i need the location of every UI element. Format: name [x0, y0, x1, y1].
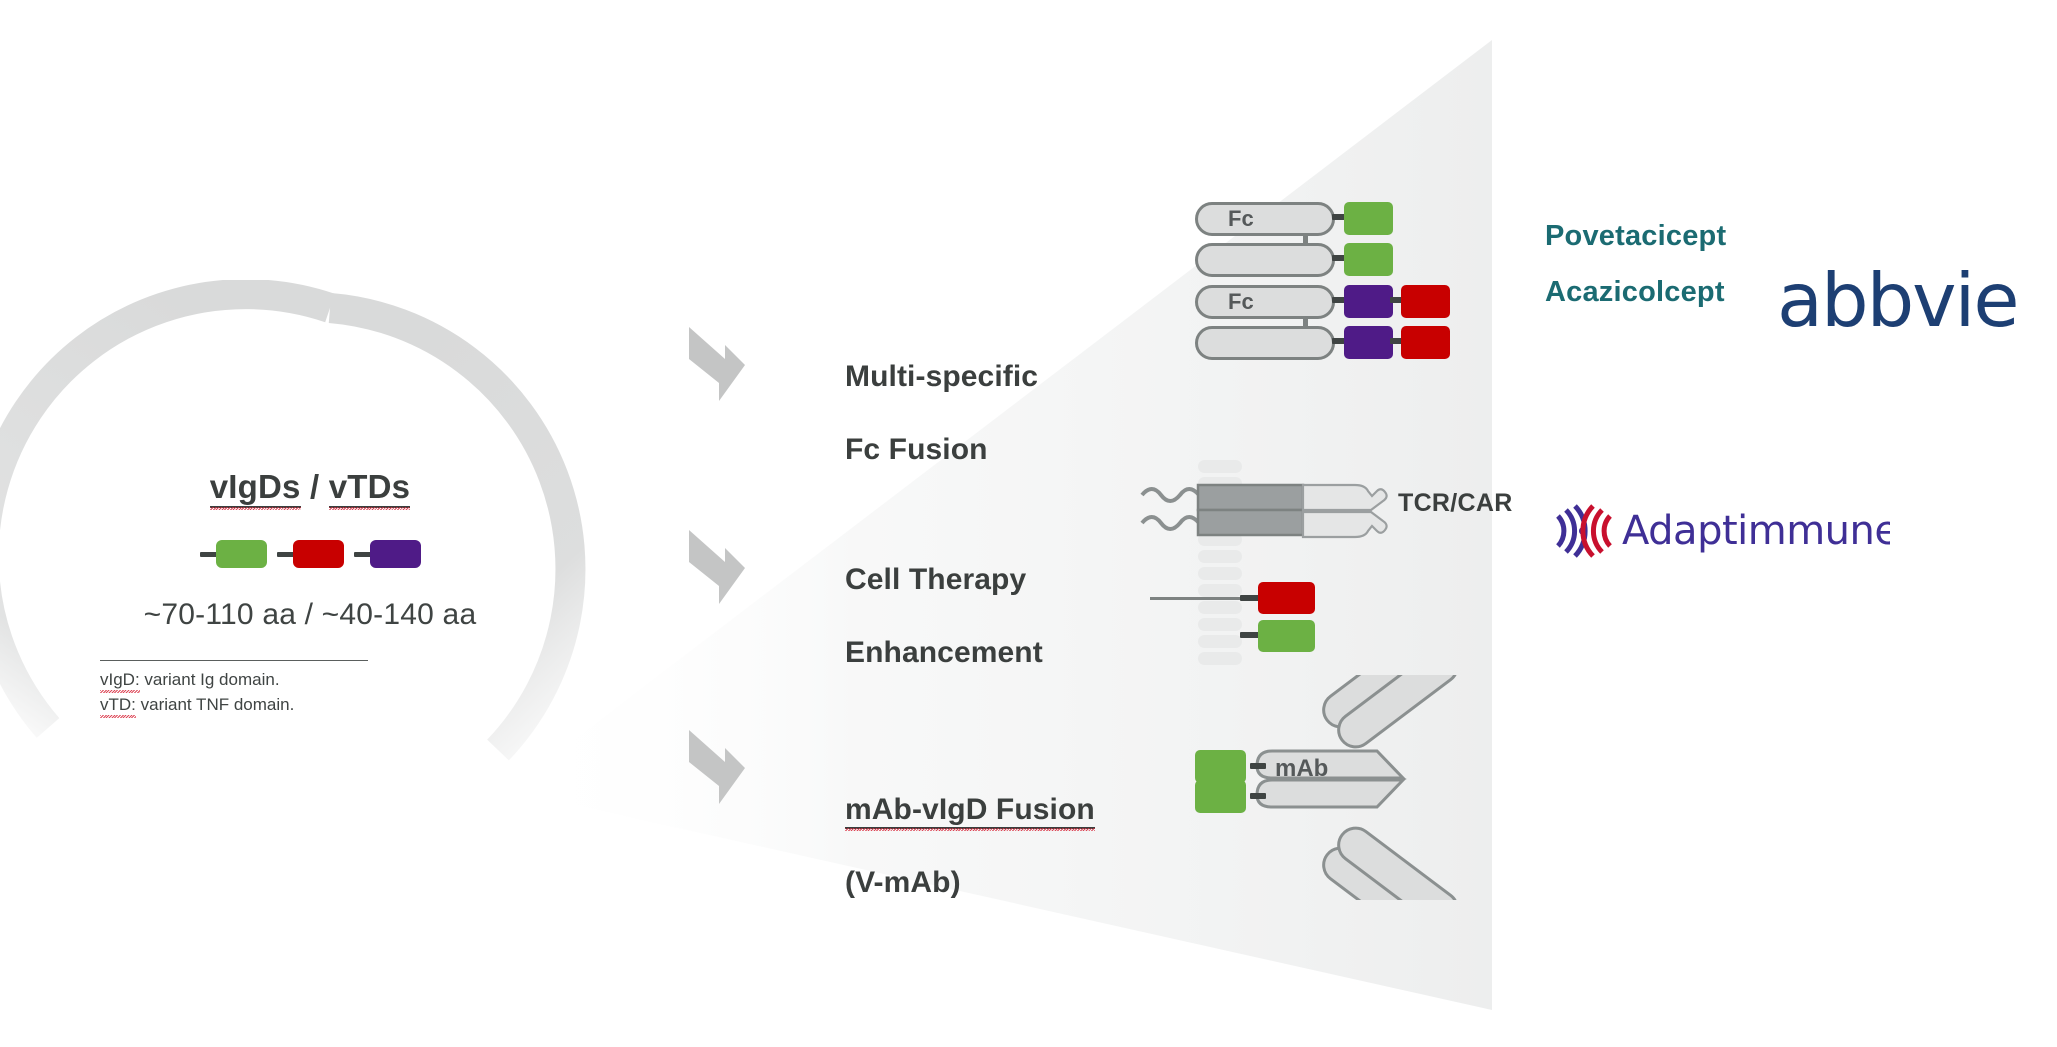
amino-acid-range-label: ~70-110 aa / ~40-140 aa — [100, 598, 520, 632]
domain-icon-red — [277, 540, 344, 568]
mab-vigd-fusion-diagram: mAb — [1195, 675, 1505, 900]
category-line-1: Cell Therapy — [845, 562, 1043, 599]
linker-stem — [200, 552, 217, 557]
fc-domain-capsule-bottom-2 — [1195, 326, 1335, 360]
vigd-green-domain-mab-1 — [1195, 750, 1246, 783]
linker-stem — [354, 552, 371, 557]
category-line-2: Enhancement — [845, 635, 1043, 672]
vigd-vtd-summary-panel: vIgDs / vTDs ~70-110 aa / ~40-140 aa vIg… — [100, 468, 520, 717]
phospholipid — [1198, 584, 1242, 597]
cell-therapy-molecule-diagram: TCR/CAR — [1140, 455, 1500, 670]
linker-mab-2 — [1250, 793, 1266, 799]
chevron-right-icon-1 — [685, 325, 749, 403]
vigd-green-domain-mab-2 — [1195, 780, 1246, 813]
vtd-red-domain-membrane — [1258, 582, 1315, 614]
footnote-vigd: vIgD: variant Ig domain. — [100, 668, 520, 693]
fc-domain-capsule-bottom-1: Fc — [1195, 285, 1335, 319]
category-label-cell-therapy-enhancement: Cell Therapy Enhancement — [845, 525, 1043, 708]
linker-mab-1 — [1250, 763, 1266, 769]
vigd-green-domain-top-1 — [1344, 202, 1393, 235]
svg-text:abbvie: abbvie — [1777, 270, 2018, 340]
footnote-vtd: vTD: variant TNF domain. — [100, 693, 520, 718]
vigd-purple-domain-2 — [1344, 326, 1393, 359]
category-line-1-text: mAb-vIgD Fusion — [845, 793, 1095, 829]
fc-fusion-molecule-diagram: Fc Fc — [1195, 195, 1495, 355]
adaptimmune-logo: Adaptimmune — [1550, 500, 1890, 562]
red-domain-tether — [1150, 597, 1250, 600]
tcr-car-label: TCR/CAR — [1398, 489, 1513, 518]
phospholipid — [1198, 635, 1242, 648]
linker-stem — [277, 552, 294, 557]
category-label-mab-vigd-fusion: mAb-vIgD Fusion (V-mAb) — [845, 755, 1095, 938]
footnote-list: vIgD: variant Ig domain. vTD: variant TN… — [100, 668, 520, 717]
tcr-car-receptor-icon — [1140, 481, 1400, 541]
domain-icon-purple — [354, 540, 421, 568]
vigd-green-domain — [216, 540, 267, 568]
fc-domain-capsule-top-2 — [1195, 243, 1335, 277]
fc-label: Fc — [1228, 206, 1254, 232]
drug-name-povetacicept: Povetacicept — [1545, 222, 1726, 251]
category-line-2: Fc Fusion — [845, 432, 1038, 469]
fc-label: Fc — [1228, 289, 1254, 315]
phospholipid — [1198, 567, 1242, 580]
footnote-divider — [100, 660, 368, 661]
vtd-red-domain-2 — [1401, 326, 1450, 359]
vigd-vtd-title: vIgDs / vTDs — [210, 468, 410, 508]
adaptimmune-mark — [1558, 506, 1610, 556]
vtd-title-part: vTDs — [329, 468, 411, 508]
phospholipid — [1198, 652, 1242, 665]
abbvie-logo: abbvie — [1545, 270, 2045, 340]
footnote-vtd-text: variant TNF domain. — [136, 695, 294, 714]
footnote-vigd-text: variant Ig domain. — [140, 670, 280, 689]
vigd-title-separator: / — [301, 468, 329, 505]
chevron-right-icon-3 — [685, 728, 749, 806]
category-label-multi-specific-fc-fusion: Multi-specific Fc Fusion — [845, 322, 1038, 505]
footnote-vigd-term: vIgD: — [100, 670, 140, 689]
chevron-right-icon-2 — [685, 528, 749, 606]
category-line-2: (V-mAb) — [845, 865, 1095, 902]
mab-label: mAb — [1275, 755, 1328, 783]
vtd-red-domain — [293, 540, 344, 568]
vigd-green-domain-top-2 — [1344, 243, 1393, 276]
phospholipid — [1198, 460, 1242, 473]
diagram-canvas: vIgDs / vTDs ~70-110 aa / ~40-140 aa vIg… — [0, 0, 2057, 1047]
vigd-green-domain-membrane — [1258, 620, 1315, 652]
category-line-1: mAb-vIgD Fusion — [845, 792, 1095, 829]
domain-icon-legend — [100, 540, 520, 568]
category-line-1: Multi-specific — [845, 359, 1038, 396]
vtd-red-domain-1 — [1401, 285, 1450, 318]
phospholipid — [1198, 550, 1242, 563]
vigd-purple-domain-1 — [1344, 285, 1393, 318]
fc-domain-capsule-top-1: Fc — [1195, 202, 1335, 236]
domain-icon-green — [200, 540, 267, 568]
vigd-title-part: vIgDs — [210, 468, 301, 508]
adaptimmune-wordmark: Adaptimmune — [1622, 508, 1890, 554]
phospholipid — [1198, 601, 1242, 614]
footnote-vtd-term: vTD: — [100, 695, 136, 714]
phospholipid — [1198, 618, 1242, 631]
vigd-purple-domain — [370, 540, 421, 568]
